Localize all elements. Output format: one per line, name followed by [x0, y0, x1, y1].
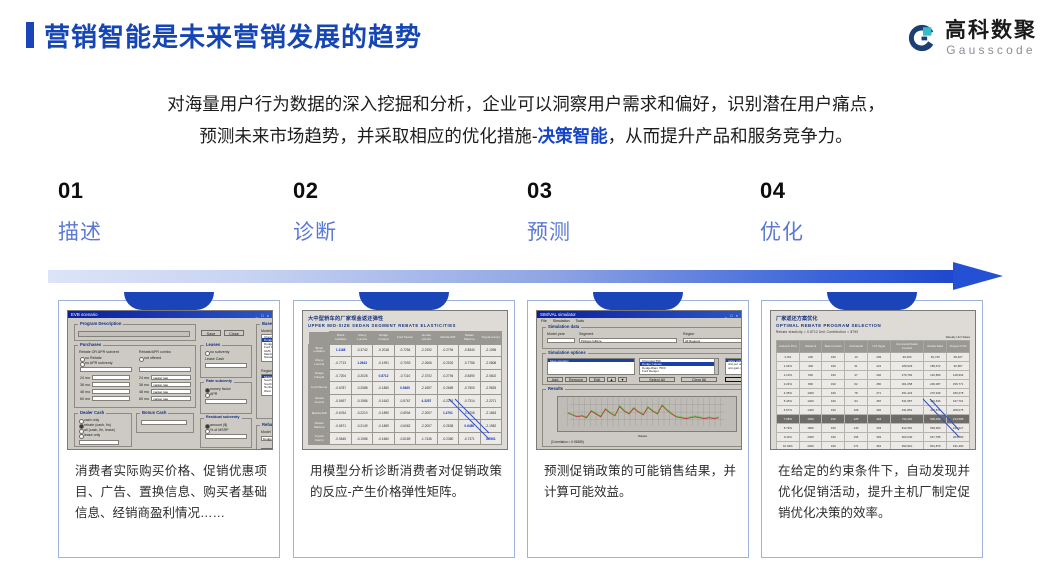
brand-logo: 高科数聚 Gausscode — [907, 16, 1037, 60]
table-row: Honda Accord-0.5497-0.1986-0.1642-0.5767… — [309, 394, 502, 407]
intro-line-2-prefix: 预测未来市场趋势，并采取相应的优化措施- — [199, 126, 537, 146]
card-caption: 消费者实际购买价格、促销优惠项目、广告、置换信息、购买者基础信息、经销商盈利情况… — [75, 461, 267, 524]
clear-all-button[interactable]: Clear All — [681, 377, 717, 382]
step-01: 01 描述 — [58, 178, 102, 246]
group-rebate-incentives: Rebate incentives Model Region Dodge Cel… — [256, 425, 273, 450]
clear-button[interactable]: Clear — [261, 448, 273, 450]
step-label: 诊断 — [293, 216, 337, 246]
models-listbox[interactable]: Chevrolet 550 Dodge Celeste Dodge/Ram 75… — [261, 334, 273, 362]
card-tab — [359, 292, 449, 310]
arrow-head-icon — [953, 262, 1003, 290]
bonus-cash-input[interactable] — [141, 420, 187, 425]
term-24-rate[interactable]: market rate — [151, 375, 191, 380]
table-row: Buick LaSabre1.1168-0.3742-0.2018-0.7254… — [309, 344, 502, 357]
rebate-amount-input[interactable] — [80, 367, 132, 372]
group-residual-subventy: Residual subventy amount ($) % of MSRP — [200, 418, 252, 448]
step-label: 描述 — [58, 216, 102, 246]
segment-select[interactable]: Pickups fullsize — [579, 338, 677, 343]
table-row: 3.24%80019062250361,058206,087156,771 — [777, 379, 970, 388]
select-all-button[interactable]: Select All — [639, 377, 675, 382]
output-options-listbox[interactable]: sales volume (units) incl. base scenario… — [725, 358, 742, 375]
table-header-row: Customer Price Rebate $ Base Incentive I… — [777, 341, 970, 353]
term-36-rate[interactable]: market rate — [151, 382, 191, 387]
step-label: 预测 — [527, 216, 571, 246]
group-rate-subventy: Rate subventy money factor APR — [200, 382, 252, 414]
group-base-incentives: Base incentives Model(s) Chevrolet 550 D… — [256, 324, 273, 419]
step-label: 优化 — [760, 216, 804, 246]
edit-button[interactable]: Edit — [589, 377, 605, 382]
page-header: 营销智能是未来营销发展的趋势 高科数聚 Gausscode — [0, 0, 1051, 72]
table-row: 4.35%100019078271451,323270,949180,278 — [777, 388, 970, 397]
progress-arrow — [48, 262, 1003, 290]
screenshot-evb-scenario: EVB scenario _ □ × Program Description S… — [67, 310, 273, 450]
table-row: Mazda 626-0.6764-0.2210-0.1890-0.6904-2.… — [309, 407, 502, 420]
results-chart — [557, 396, 737, 432]
opt-title-cn: 厂家返还方案优化 — [776, 315, 970, 322]
card-caption: 用模型分析诊断消费者对促销政策的反应-产生价格弹性矩阵。 — [310, 461, 502, 503]
scenarios-listbox[interactable]: base scenario — [547, 358, 635, 375]
term-60-input[interactable] — [92, 396, 130, 401]
table-row: Dodge Intrepid-0.7204-0.20280.8712-0.711… — [309, 369, 502, 382]
group-dealer-cash: Dealer Cash cash only rebate (cash, fin)… — [74, 413, 132, 447]
menu-bar[interactable]: File Simulation Tools — [541, 319, 584, 323]
table-row: 8.79%1800190140333812,381599,900212,627 — [777, 424, 970, 433]
matrix-title-en: UPPER MID-SIZE SEDAN SEGMENT REBATE ELAS… — [308, 323, 502, 328]
window-title: SIM/VAL simulator — [540, 312, 576, 317]
opt-subtitle: Rebate elasticity = 0.8712 Unit Contribu… — [776, 330, 970, 334]
move-up-icon[interactable]: ▲ — [607, 377, 616, 382]
save-button[interactable]: Save — [201, 330, 221, 336]
table-row: 0.0%2001901020990,26081,73068,407 — [777, 353, 970, 362]
regions-listbox[interactable]: Midwest Southwest Southeast Northeast We… — [261, 374, 273, 396]
table-row: Nissan Maxima-0.6571-0.2149-0.1869-0.606… — [309, 420, 502, 433]
lease-cash-input[interactable] — [205, 363, 247, 368]
window-titlebar: SIM/VAL simulator _ □ × — [537, 311, 741, 318]
step-number: 04 — [760, 178, 804, 204]
card-predict[interactable]: SIM/VAL simulator _ □ × File Simulation … — [527, 300, 749, 558]
residual-value-input[interactable] — [205, 434, 247, 439]
window-title: EVB scenario — [71, 312, 98, 317]
term-48-rate[interactable]: market rate — [151, 389, 191, 394]
group-bonus-cash: Bonus Cash — [136, 413, 194, 433]
intro-paragraph: 对海量用户行为数据的深入挖掘和分析，企业可以洞察用户需求和偏好，识别潜在用户痛点… — [46, 88, 1006, 152]
models-listbox[interactable]: Chevrolet 550 Dodge Celeste Dodge/Ram 75… — [639, 358, 719, 375]
matrix-title-cn: 大中型轿车的厂家现金返还弹性 — [308, 315, 502, 322]
region-select[interactable]: All Regions — [683, 338, 742, 343]
card-caption: 在给定的约束条件下，自动发现并优化促销活动，提升主机厂制定促销优化决策的效率。 — [778, 461, 970, 524]
step-number: 01 — [58, 178, 102, 204]
model-year-select[interactable] — [547, 338, 575, 343]
card-tab — [593, 292, 683, 310]
card-describe[interactable]: EVB scenario _ □ × Program Description S… — [58, 300, 280, 558]
card-tab — [124, 292, 214, 310]
program-description-input[interactable] — [78, 331, 190, 337]
group-leases: Leases no subventy Lease Cash — [200, 345, 252, 378]
step-04: 04 优化 — [760, 178, 804, 246]
title-accent-bar — [26, 22, 34, 48]
term-36-input[interactable] — [92, 382, 130, 387]
arrow-shaft — [48, 270, 963, 283]
screenshot-optimal-rebate: 厂家返还方案优化 OPTIMAL REBATE PROGRAM SELECTIO… — [770, 310, 976, 450]
intro-line-1: 对海量用户行为数据的深入挖掘和分析，企业可以洞察用户需求和偏好，识别潜在用户痛点… — [167, 94, 885, 114]
logo-chinese-name: 高科数聚 — [945, 20, 1037, 41]
move-down-icon[interactable]: ▼ — [618, 377, 627, 382]
card-optimize[interactable]: 厂家返还方案优化 OPTIMAL REBATE PROGRAM SELECTIO… — [761, 300, 983, 558]
group-results: Results — [542, 389, 742, 447]
intro-line-2-suffix: ，从而提升产品和服务竞争力。 — [608, 126, 853, 146]
table-row: Toyota Camry-0.5645-0.1988-0.1660-0.6189… — [309, 432, 502, 445]
menu-simulation[interactable]: Simulation — [553, 319, 570, 323]
opt-corner-label: Weekly Unit Sales — [776, 335, 970, 339]
group-program-description: Program Description — [74, 324, 196, 341]
opt-title-en: OPTIMAL REBATE PROGRAM SELECTION — [776, 323, 970, 328]
remove-button[interactable]: Remove — [565, 377, 587, 382]
screenshot-simulator: SIM/VAL simulator _ □ × File Simulation … — [536, 310, 742, 450]
page-title: 营销智能是未来营销发展的趋势 — [44, 17, 422, 54]
term-48-input[interactable] — [92, 389, 130, 394]
optimal-rebate-table: Customer Price Rebate $ Base Incentive I… — [776, 340, 970, 450]
table-header-row: Buick LaSabre Chevy Lumina Dodge Intrepi… — [309, 332, 502, 345]
step-03: 03 预测 — [527, 178, 571, 246]
table-row: 9.11%2000190156349902,640647,786204,883 — [777, 433, 970, 442]
window-controls: _ □ × — [725, 312, 739, 319]
menu-file[interactable]: File — [541, 319, 547, 323]
window-controls: _ □ × — [256, 312, 270, 319]
step-02: 02 诊断 — [293, 178, 337, 246]
graph-button[interactable]: Graph — [725, 377, 742, 382]
add-button[interactable]: Add — [547, 377, 563, 382]
menu-tools[interactable]: Tools — [576, 319, 584, 323]
table-row: Chevy Lumina-0.77131.2643-0.1991-0.7093-… — [309, 357, 502, 370]
correlation-note: (Correlation = 0.96385) — [551, 440, 584, 444]
combo-amount-input[interactable] — [139, 367, 191, 372]
logo-english-name: Gausscode — [945, 44, 1037, 56]
group-simulation-data: Simulation data Model year Segment Regio… — [542, 327, 742, 349]
table-row: 10.02%2200190171364992,910801,870191,460 — [777, 441, 970, 450]
elasticity-matrix-table: Buick LaSabre Chevy Lumina Dodge Intrepi… — [308, 331, 502, 445]
rebate-model-select[interactable]: Dodge Celeste — [261, 436, 273, 441]
gausscode-logo-icon — [907, 23, 937, 53]
window-titlebar: EVB scenario _ □ × — [68, 311, 272, 318]
close-button[interactable]: Close — [224, 330, 244, 336]
models-scrollbar[interactable] — [714, 359, 718, 374]
group-simulation-options: Simulation options base scenario Add Rem… — [542, 353, 742, 385]
step-number: 03 — [527, 178, 571, 204]
group-purchases: Purchases Rebate OR APR subvent Rebate/A… — [74, 345, 196, 408]
term-60-rate[interactable]: market rate — [151, 396, 191, 401]
table-row: 5.46%120019094287541,587340,846197,761 — [777, 397, 970, 406]
table-row: 6.57%1400190109302631,852402,879208,075 — [777, 406, 970, 415]
card-tab — [827, 292, 917, 310]
intro-highlight-term: 决策智能 — [538, 126, 608, 146]
screenshot-elasticity-matrix: 大中型轿车的厂家现金返还弹性 UPPER MID-SIZE SEDAN SEGM… — [302, 310, 508, 450]
term-24-input[interactable] — [92, 375, 130, 380]
table-row: 1.02%40019031224180,529189,67290,807 — [777, 361, 970, 370]
table-row: Ford Taurus-0.6787-0.2588-0.18600.9480-2… — [309, 382, 502, 395]
dealer-cash-select[interactable] — [79, 440, 119, 445]
table-row: 2.13%60019047240270,784140,860128,902 — [777, 370, 970, 379]
card-caption: 预测促销政策的可能销售结果，并计算可能效益。 — [544, 461, 736, 503]
step-number: 02 — [293, 178, 337, 204]
table-row-highlighted: 7.68%1600190125318722,110509,339213,588 — [777, 415, 970, 424]
card-diagnose[interactable]: 大中型轿车的厂家现金返还弹性 UPPER MID-SIZE SEDAN SEGM… — [293, 300, 515, 558]
rate-value-input[interactable] — [205, 399, 247, 404]
